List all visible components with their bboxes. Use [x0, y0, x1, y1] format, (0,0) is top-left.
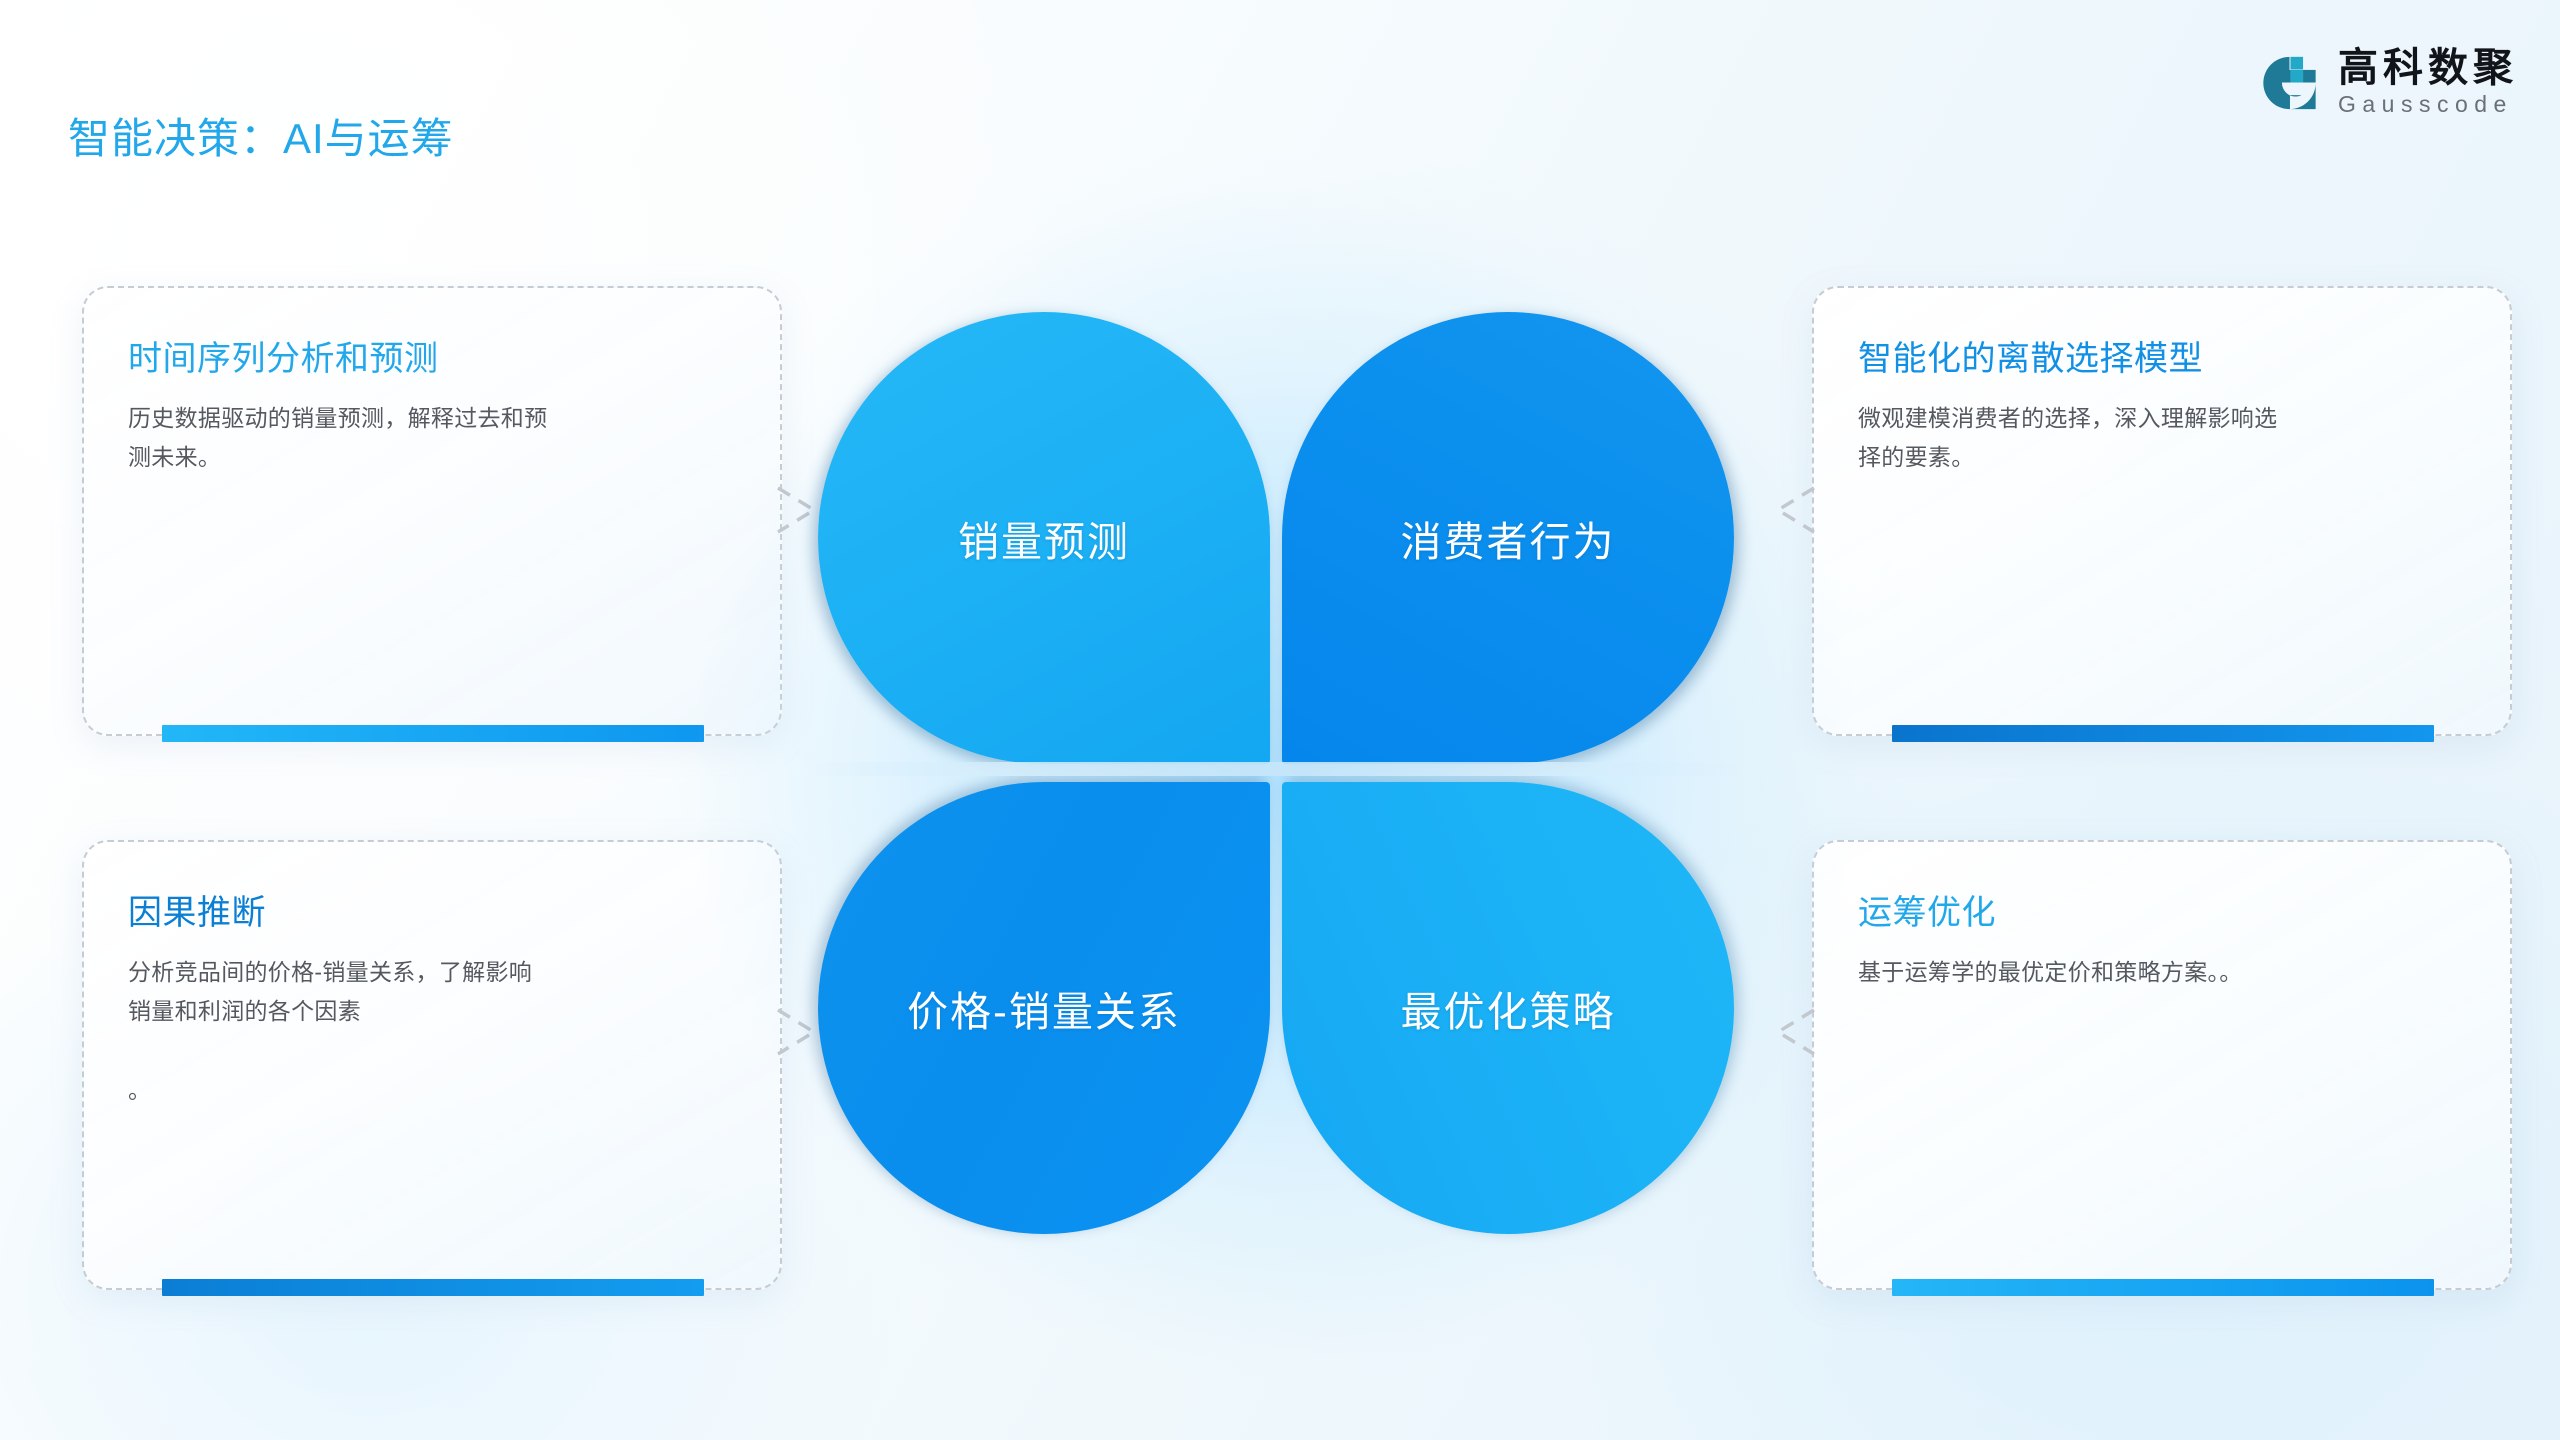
card-content: 因果推断 分析竞品间的价格-销量关系，了解影响 销量和利润的各个因素 。: [84, 842, 780, 1111]
petal-label: 最优化策略: [1401, 978, 1616, 1038]
flower-glow: [698, 192, 1854, 1354]
brand-name-cn: 高科数聚: [2338, 48, 2518, 90]
chevron-left-icon: [1768, 478, 1822, 542]
chevron-right-icon: [770, 478, 824, 542]
brand-logo: 高科数聚 Gausscode: [2258, 48, 2518, 118]
gausscode-g-logo-icon: [2258, 52, 2320, 114]
card-title: 运筹优化: [1858, 892, 2466, 935]
petal-label: 消费者行为: [1401, 508, 1616, 568]
petal-sales-forecast[interactable]: 销量预测: [818, 312, 1270, 764]
card-title: 因果推断: [128, 892, 736, 935]
chevron-right-icon: [770, 1000, 824, 1064]
petal-price-volume-relationship[interactable]: 价格-销量关系: [818, 782, 1270, 1234]
petal-label: 价格-销量关系: [907, 978, 1181, 1038]
card-title: 时间序列分析和预测: [128, 338, 736, 381]
petal-label: 销量预测: [958, 508, 1130, 568]
card-accent-bar: [1892, 725, 2434, 742]
card-accent-bar: [1892, 1279, 2434, 1296]
brand-name-en: Gausscode: [2338, 90, 2518, 119]
quadrant-flower-diagram: 销量预测 消费者行为 价格-销量关系 最优化策略: [818, 312, 1734, 1234]
card-accent-bar: [162, 1279, 704, 1296]
card-body: 基于运筹学的最优定价和策略方案。。: [1858, 953, 2466, 993]
card-operations-optimization[interactable]: 运筹优化 基于运筹学的最优定价和策略方案。。: [1812, 840, 2512, 1290]
card-accent-bar: [162, 725, 704, 742]
petal-optimization-strategy[interactable]: 最优化策略: [1282, 782, 1734, 1234]
card-title: 智能化的离散选择模型: [1858, 338, 2466, 381]
card-content: 运筹优化 基于运筹学的最优定价和策略方案。。: [1814, 842, 2510, 992]
petal-consumer-behavior[interactable]: 消费者行为: [1282, 312, 1734, 764]
card-content: 智能化的离散选择模型 微观建模消费者的选择，深入理解影响选 择的要素。: [1814, 288, 2510, 478]
card-causal-inference[interactable]: 因果推断 分析竞品间的价格-销量关系，了解影响 销量和利润的各个因素 。: [82, 840, 782, 1290]
card-body: 分析竞品间的价格-销量关系，了解影响 销量和利润的各个因素 。: [128, 953, 736, 1111]
page-title: 智能决策：AI与运筹: [68, 105, 454, 166]
card-content: 时间序列分析和预测 历史数据驱动的销量预测，解释过去和预 测未来。: [84, 288, 780, 478]
flower-seam-highlight: [798, 762, 1754, 776]
card-body: 微观建模消费者的选择，深入理解影响选 择的要素。: [1858, 399, 2466, 478]
card-body: 历史数据驱动的销量预测，解释过去和预 测未来。: [128, 399, 736, 478]
card-time-series-forecasting[interactable]: 时间序列分析和预测 历史数据驱动的销量预测，解释过去和预 测未来。: [82, 286, 782, 736]
brand-wordmark: 高科数聚 Gausscode: [2338, 48, 2518, 118]
chevron-left-icon: [1768, 1000, 1822, 1064]
card-discrete-choice-model[interactable]: 智能化的离散选择模型 微观建模消费者的选择，深入理解影响选 择的要素。: [1812, 286, 2512, 736]
